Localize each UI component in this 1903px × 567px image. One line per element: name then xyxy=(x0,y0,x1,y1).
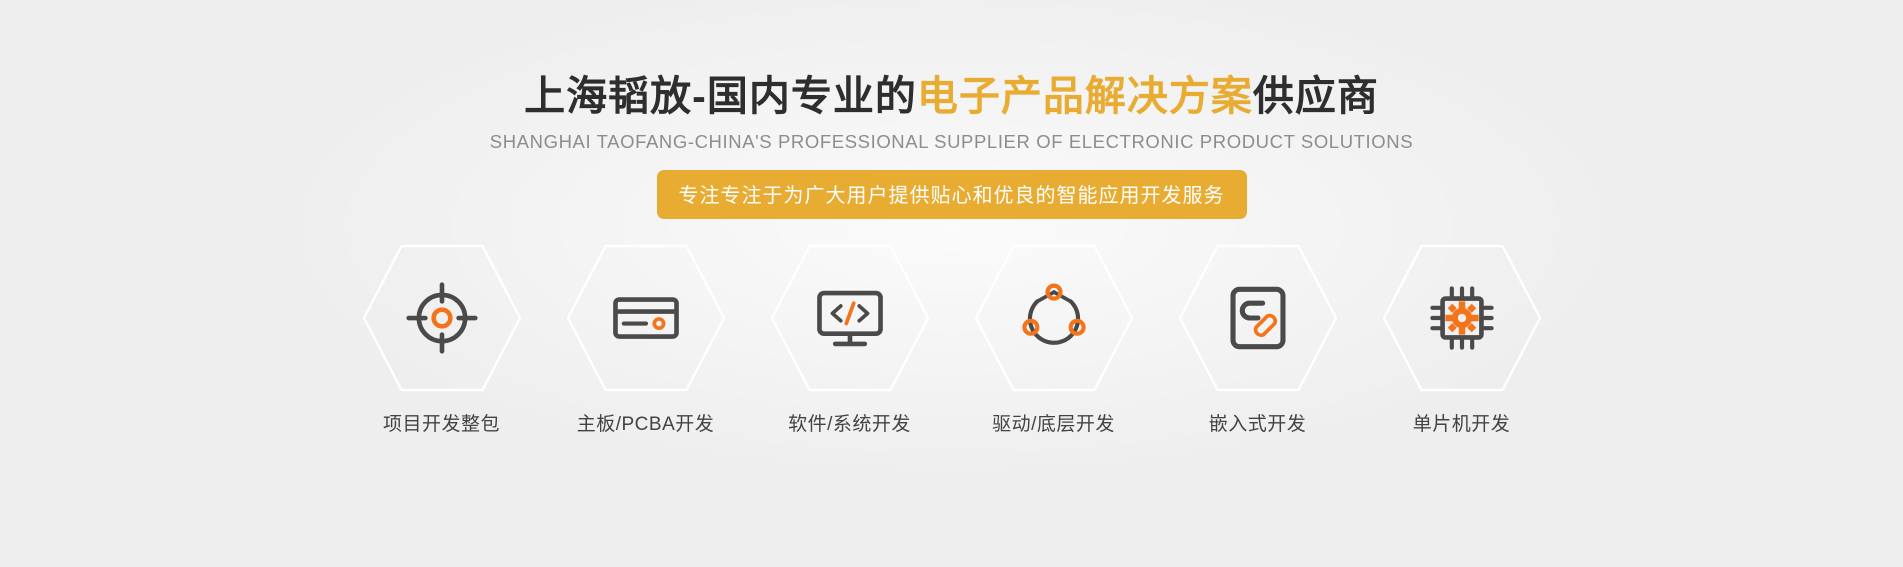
service-label: 项目开发整包 xyxy=(383,409,500,436)
microchip-gear-icon xyxy=(1425,281,1499,355)
status-badge: 专注专注于为广大用户提供贴心和优良的智能应用开发服务 xyxy=(657,170,1247,219)
headline-suffix: 供应商 xyxy=(1253,73,1379,119)
service-label: 主板/PCBA开发 xyxy=(577,409,715,436)
hexagon-frame xyxy=(361,243,523,393)
service-label: 驱动/底层开发 xyxy=(992,409,1115,436)
monitor-code-icon xyxy=(813,281,887,355)
service-item-mcu[interactable]: 单片机开发 xyxy=(1381,243,1543,436)
page-subtitle: SHANGHAI TAOFANG-CHINA'S PROFESSIONAL SU… xyxy=(490,131,1413,153)
service-item-driver-lowlevel[interactable]: 驱动/底层开发 xyxy=(973,243,1135,436)
network-nodes-icon xyxy=(1017,281,1091,355)
page-title: 上海韬放-国内专业的电子产品解决方案供应商 xyxy=(524,74,1379,120)
service-label: 单片机开发 xyxy=(1413,409,1511,436)
embedded-link-icon xyxy=(1221,281,1295,355)
crosshair-target-icon xyxy=(405,281,479,355)
headline-prefix: 上海韬放-国内专业的 xyxy=(524,73,917,119)
hexagon-frame xyxy=(769,243,931,393)
hero-banner: 上海韬放-国内专业的电子产品解决方案供应商 SHANGHAI TAOFANG-C… xyxy=(0,0,1903,567)
circuit-board-icon xyxy=(609,281,683,355)
service-item-software-system[interactable]: 软件/系统开发 xyxy=(769,243,931,436)
service-item-embedded[interactable]: 嵌入式开发 xyxy=(1177,243,1339,436)
service-label: 嵌入式开发 xyxy=(1209,409,1307,436)
headline-highlight: 电子产品解决方案 xyxy=(917,73,1253,119)
hexagon-frame xyxy=(1381,243,1543,393)
service-label: 软件/系统开发 xyxy=(788,409,911,436)
hexagon-frame xyxy=(565,243,727,393)
service-item-project-package[interactable]: 项目开发整包 xyxy=(361,243,523,436)
service-item-pcba[interactable]: 主板/PCBA开发 xyxy=(565,243,727,436)
hexagon-frame xyxy=(973,243,1135,393)
service-list: 项目开发整包 主板/PCBA开发 xyxy=(361,243,1543,436)
hexagon-frame xyxy=(1177,243,1339,393)
